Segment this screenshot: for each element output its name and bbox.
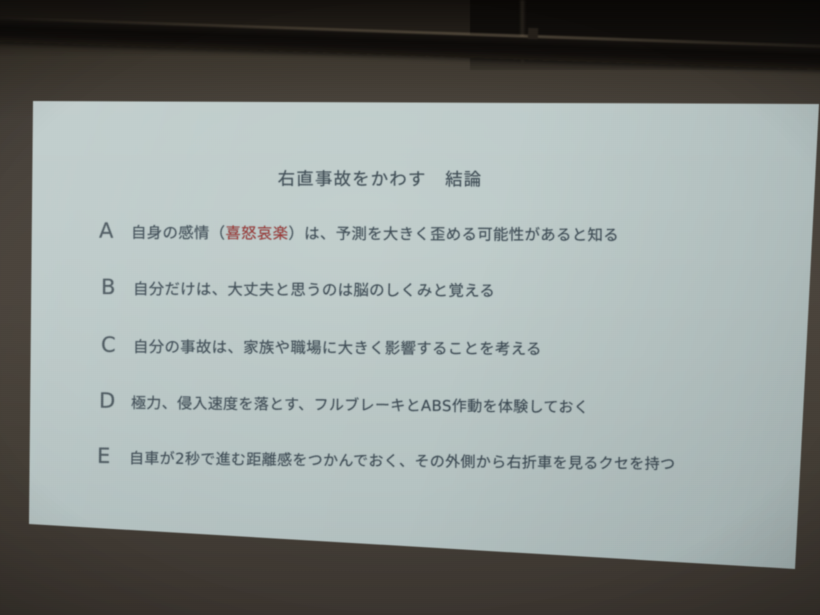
photo-of-projected-slide: 右直事故をかわす 結論 A 自身の感情（喜怒哀楽）は、予測を大きく歪める可能性が…	[0, 0, 820, 615]
roller-bar-bracket	[528, 28, 538, 39]
